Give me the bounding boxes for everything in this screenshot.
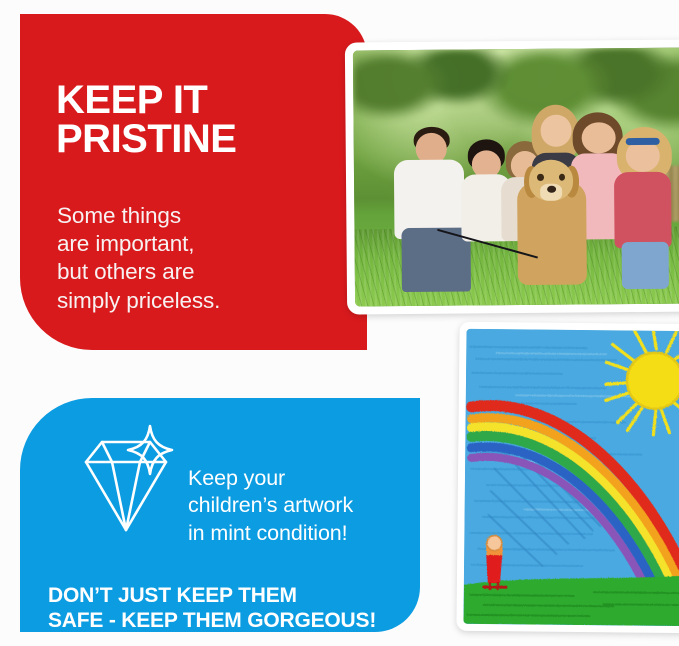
red-panel-body: Some things are important, but others ar…: [57, 202, 337, 315]
blue-panel-body: Keep your children’s artwork in mint con…: [188, 465, 428, 549]
photo-person-girl-in-pink: [610, 127, 677, 286]
blue-panel-tagline: DON’T JUST KEEP THEM SAFE - KEEP THEM GO…: [48, 584, 428, 634]
red-headline-line-2: PRISTINE: [56, 120, 326, 159]
blue-body-line-2: children’s artwork: [188, 492, 428, 520]
artwork-image: [463, 329, 679, 626]
blue-message-panel: Keep your children’s artwork in mint con…: [20, 398, 420, 632]
family-photo-image: [353, 47, 679, 306]
red-headline-line-1: KEEP IT: [56, 78, 207, 122]
diamond-sparkle-icon: [64, 420, 184, 538]
poster-canvas: KEEP IT PRISTINE Some things are importa…: [0, 0, 679, 646]
red-panel-headline: KEEP IT PRISTINE: [56, 81, 326, 159]
blue-tagline-line-2: SAFE - KEEP THEM GORGEOUS!: [48, 609, 428, 634]
childrens-artwork-card: Child’s crayon drawing of a rainbow, a y…: [456, 322, 679, 634]
red-body-line-2: are important,: [57, 230, 337, 258]
red-message-panel: KEEP IT PRISTINE Some things are importa…: [20, 14, 367, 350]
photo-golden-retriever-dog: [517, 182, 587, 285]
red-body-line-3: but others are: [57, 258, 337, 286]
red-body-line-4: simply priceless.: [57, 287, 337, 315]
blue-body-line-3: in mint condition!: [188, 520, 428, 548]
family-photo-card: Family with a golden retriever dog kneel…: [345, 39, 679, 314]
artwork-alt: Child’s crayon drawing of a rainbow, a y…: [466, 328, 467, 329]
red-body-line-1: Some things: [57, 202, 337, 230]
blue-tagline-line-1: DON’T JUST KEEP THEM: [48, 584, 428, 609]
blue-body-line-1: Keep your: [188, 465, 428, 493]
